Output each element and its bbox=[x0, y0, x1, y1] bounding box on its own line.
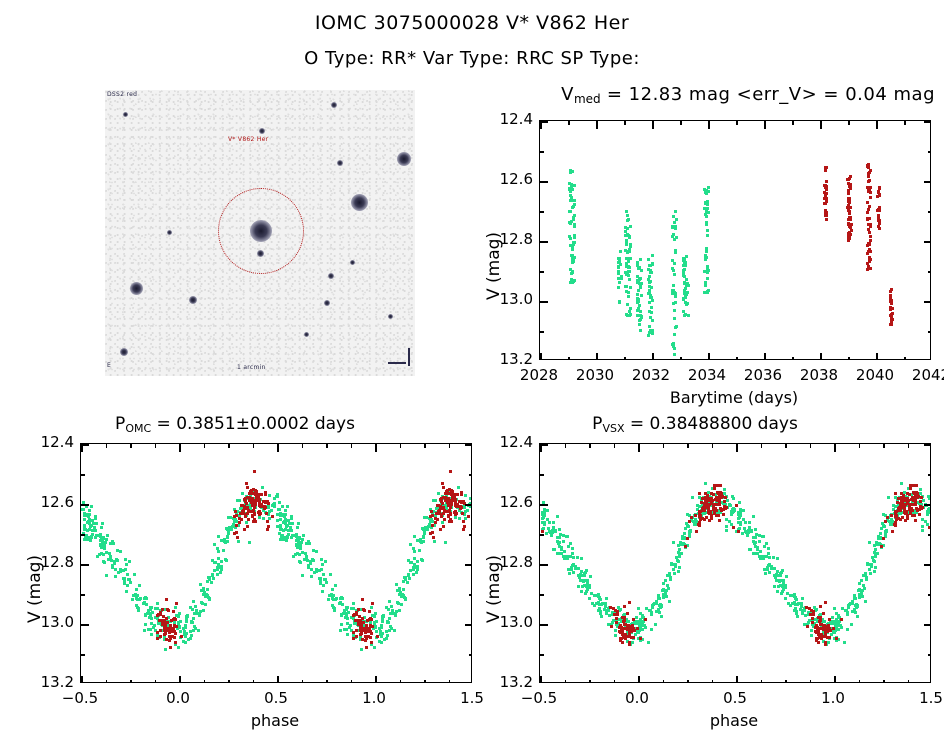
data-point bbox=[416, 560, 419, 563]
phase-vsx-xtick-label: −0.5 bbox=[499, 689, 579, 707]
data-point bbox=[322, 584, 325, 587]
data-point bbox=[175, 602, 178, 605]
data-point bbox=[541, 511, 544, 514]
phase-omc-xtick-minor bbox=[351, 680, 353, 683]
data-point bbox=[90, 505, 93, 508]
data-point bbox=[298, 553, 301, 556]
phase-omc-ytick-label: 12.6 bbox=[22, 493, 74, 511]
data-point bbox=[900, 503, 903, 506]
data-point bbox=[257, 495, 260, 498]
data-point bbox=[192, 629, 195, 632]
data-point bbox=[114, 575, 117, 578]
data-point bbox=[782, 588, 785, 591]
data-point bbox=[553, 548, 556, 551]
data-point bbox=[770, 565, 773, 568]
data-point bbox=[217, 535, 220, 538]
data-point bbox=[705, 215, 708, 218]
data-point bbox=[464, 494, 467, 497]
lightcurve-plot-area bbox=[539, 120, 931, 360]
data-point bbox=[319, 582, 322, 585]
phase-omc-ytick-minor bbox=[81, 654, 85, 656]
data-point bbox=[371, 602, 374, 605]
data-point bbox=[824, 641, 827, 644]
data-point bbox=[245, 482, 248, 485]
data-point bbox=[273, 504, 276, 507]
data-point bbox=[219, 571, 222, 574]
data-point bbox=[827, 641, 830, 644]
lightcurve-xtick-minor bbox=[792, 121, 794, 125]
data-point bbox=[639, 258, 642, 261]
phase-omc-xtick-minor bbox=[400, 444, 402, 448]
data-point bbox=[919, 500, 922, 503]
data-point bbox=[311, 558, 314, 561]
phase-omc-ytick-label: 12.8 bbox=[22, 553, 74, 571]
data-point bbox=[91, 519, 94, 522]
data-point bbox=[758, 534, 761, 537]
phase-vsx-ytick-minor bbox=[540, 534, 544, 536]
lightcurve-ytick bbox=[924, 301, 931, 303]
data-point bbox=[105, 538, 108, 541]
data-point bbox=[623, 605, 626, 608]
data-point bbox=[619, 250, 622, 253]
data-point bbox=[705, 250, 708, 253]
data-point bbox=[603, 608, 606, 611]
data-point bbox=[144, 623, 147, 626]
field-star bbox=[257, 250, 264, 257]
data-point bbox=[868, 541, 871, 544]
data-point bbox=[811, 617, 814, 620]
data-point bbox=[601, 602, 604, 605]
data-point bbox=[684, 301, 687, 304]
data-point bbox=[753, 541, 756, 544]
data-point bbox=[648, 281, 651, 284]
data-point bbox=[246, 525, 249, 528]
phase-vsx-xtick-minor bbox=[785, 444, 787, 448]
data-point bbox=[767, 564, 770, 567]
data-point bbox=[889, 522, 892, 525]
data-point bbox=[220, 560, 223, 563]
data-point bbox=[767, 552, 770, 555]
data-point bbox=[767, 547, 770, 550]
data-point bbox=[135, 588, 138, 591]
data-point bbox=[446, 501, 449, 504]
data-point bbox=[315, 568, 318, 571]
data-point bbox=[677, 560, 680, 563]
data-point bbox=[776, 570, 779, 573]
finder-scale-label: 1 arcmin bbox=[237, 364, 266, 371]
data-point bbox=[444, 541, 447, 544]
phase-vsx-xtick bbox=[540, 676, 542, 683]
data-point bbox=[890, 288, 893, 291]
data-point bbox=[728, 503, 731, 506]
data-point bbox=[824, 166, 827, 169]
data-point bbox=[617, 286, 620, 289]
data-point bbox=[858, 593, 861, 596]
data-point bbox=[908, 493, 911, 496]
data-point bbox=[703, 207, 706, 210]
data-point bbox=[707, 190, 710, 193]
data-point bbox=[443, 518, 446, 521]
data-point bbox=[385, 630, 388, 633]
data-point bbox=[567, 568, 570, 571]
field-star bbox=[331, 102, 337, 108]
data-point bbox=[254, 500, 257, 503]
data-point bbox=[877, 214, 880, 217]
data-point bbox=[856, 605, 859, 608]
data-point bbox=[266, 520, 269, 523]
phase-vsx-xtick-minor bbox=[785, 680, 787, 683]
phase-vsx-xtick-label: 0.0 bbox=[597, 689, 677, 707]
data-point bbox=[83, 524, 86, 527]
data-point bbox=[580, 570, 583, 573]
lightcurve-ytick bbox=[540, 181, 548, 183]
vmed-rest: = 12.83 mag <err_V> = 0.04 mag bbox=[601, 84, 935, 105]
data-point bbox=[796, 615, 799, 618]
lightcurve-ytick bbox=[540, 241, 548, 243]
phase-vsx-xtick-label: 1.0 bbox=[793, 689, 873, 707]
data-point bbox=[816, 637, 819, 640]
data-point bbox=[462, 528, 465, 531]
data-point bbox=[99, 539, 102, 542]
phase-vsx-xtick-minor bbox=[810, 680, 812, 683]
data-point bbox=[571, 552, 574, 555]
data-point bbox=[421, 540, 424, 543]
data-point bbox=[927, 495, 930, 498]
data-point bbox=[763, 568, 766, 571]
data-point bbox=[212, 577, 215, 580]
data-point bbox=[172, 627, 175, 630]
data-point bbox=[694, 514, 697, 517]
data-point bbox=[884, 533, 887, 536]
data-point bbox=[892, 504, 895, 507]
data-point bbox=[202, 609, 205, 612]
data-point bbox=[710, 497, 713, 500]
data-point bbox=[346, 633, 349, 636]
data-point bbox=[321, 563, 324, 566]
data-point bbox=[422, 535, 425, 538]
data-point bbox=[867, 175, 870, 178]
data-point bbox=[648, 325, 651, 328]
orientation-arrow-north bbox=[408, 348, 410, 366]
data-point bbox=[926, 513, 929, 516]
phase-vsx-xlabel: phase bbox=[589, 711, 879, 730]
data-point bbox=[876, 195, 879, 198]
data-point bbox=[126, 584, 129, 587]
data-point bbox=[265, 512, 268, 515]
data-point bbox=[374, 612, 377, 615]
data-point bbox=[441, 502, 444, 505]
field-star bbox=[259, 128, 265, 134]
lightcurve-xtick bbox=[708, 353, 710, 360]
phase-vsx-xtick-minor bbox=[687, 680, 689, 683]
data-point bbox=[803, 609, 806, 612]
data-point bbox=[847, 192, 850, 195]
data-point bbox=[258, 516, 261, 519]
data-point bbox=[430, 519, 433, 522]
phase-vsx-ytick bbox=[924, 444, 931, 446]
data-point bbox=[688, 533, 691, 536]
data-point bbox=[641, 614, 644, 617]
data-point bbox=[682, 259, 685, 262]
data-point bbox=[912, 499, 915, 502]
data-point bbox=[824, 601, 827, 604]
data-point bbox=[571, 547, 574, 550]
data-point bbox=[448, 488, 451, 491]
data-point bbox=[235, 524, 238, 527]
data-point bbox=[552, 521, 555, 524]
data-point bbox=[672, 226, 675, 229]
data-point bbox=[628, 629, 631, 632]
data-point bbox=[236, 536, 239, 539]
data-point bbox=[229, 516, 232, 519]
lightcurve-xtick-minor bbox=[848, 121, 850, 125]
data-point bbox=[461, 512, 464, 515]
data-point bbox=[584, 584, 587, 587]
data-point bbox=[418, 549, 421, 552]
lightcurve-xtick-minor bbox=[680, 121, 682, 125]
data-point bbox=[437, 492, 440, 495]
data-point bbox=[916, 509, 919, 512]
phase-omc-xtick-minor bbox=[351, 444, 353, 448]
data-point bbox=[150, 606, 153, 609]
data-point bbox=[704, 254, 707, 257]
phase-vsx-xtick-minor bbox=[859, 680, 861, 683]
data-point bbox=[156, 602, 159, 605]
data-point bbox=[614, 634, 617, 637]
data-point bbox=[217, 550, 220, 553]
data-point bbox=[286, 536, 289, 539]
data-point bbox=[889, 308, 892, 311]
field-star bbox=[324, 300, 330, 306]
data-point bbox=[849, 233, 852, 236]
data-point bbox=[684, 287, 687, 290]
data-point bbox=[878, 186, 881, 189]
data-point bbox=[698, 492, 701, 495]
data-point bbox=[94, 515, 97, 518]
data-point bbox=[238, 521, 241, 524]
data-point bbox=[301, 551, 304, 554]
data-point bbox=[819, 605, 822, 608]
finder-east-label: E bbox=[107, 362, 111, 369]
phase-vsx-ytick-label: 12.6 bbox=[481, 493, 533, 511]
data-point bbox=[190, 634, 193, 637]
data-point bbox=[444, 499, 447, 502]
data-point bbox=[267, 506, 270, 509]
data-point bbox=[640, 294, 643, 297]
data-point bbox=[862, 584, 865, 587]
data-point bbox=[366, 635, 369, 638]
data-point bbox=[394, 612, 397, 615]
data-point bbox=[101, 522, 104, 525]
phase-vsx-ytick bbox=[924, 504, 931, 506]
data-point bbox=[926, 523, 929, 526]
data-point bbox=[180, 635, 183, 638]
data-point bbox=[900, 492, 903, 495]
data-point bbox=[352, 637, 355, 640]
data-point bbox=[673, 309, 676, 312]
phase-omc-xtick bbox=[179, 676, 181, 683]
data-point bbox=[290, 529, 293, 532]
data-point bbox=[919, 505, 922, 508]
data-point bbox=[617, 261, 620, 264]
data-point bbox=[706, 234, 709, 237]
data-point bbox=[801, 612, 804, 615]
lightcurve-xtick-minor bbox=[904, 357, 906, 360]
data-point bbox=[334, 584, 337, 587]
data-point bbox=[858, 596, 861, 599]
data-point bbox=[222, 549, 225, 552]
data-point bbox=[589, 575, 592, 578]
data-point bbox=[192, 600, 195, 603]
data-point bbox=[200, 601, 203, 604]
data-point bbox=[673, 221, 676, 224]
data-point bbox=[704, 492, 707, 495]
lightcurve-xtick bbox=[876, 353, 878, 360]
data-point bbox=[439, 528, 442, 531]
data-point bbox=[449, 506, 452, 509]
data-point bbox=[731, 495, 734, 498]
data-point bbox=[853, 594, 856, 597]
phase-vsx-xtick-minor bbox=[565, 680, 567, 683]
data-point bbox=[911, 514, 914, 517]
data-point bbox=[450, 493, 453, 496]
data-point bbox=[338, 602, 341, 605]
data-point bbox=[847, 604, 850, 607]
data-point bbox=[197, 629, 200, 632]
data-point bbox=[558, 528, 561, 531]
data-point bbox=[695, 530, 698, 533]
data-point bbox=[833, 607, 836, 610]
data-point bbox=[847, 178, 850, 181]
data-point bbox=[914, 519, 917, 522]
data-point bbox=[800, 602, 803, 605]
phase-omc-ytick-label: 13.2 bbox=[22, 673, 74, 691]
data-point bbox=[125, 590, 128, 593]
data-point bbox=[546, 509, 549, 512]
lightcurve-xtick-minor bbox=[736, 357, 738, 360]
phase-omc-xtick-minor bbox=[106, 444, 108, 448]
data-point bbox=[340, 623, 343, 626]
phase-omc-xtick-minor bbox=[155, 680, 157, 683]
data-point bbox=[678, 555, 681, 558]
data-point bbox=[672, 284, 675, 287]
data-point bbox=[247, 509, 250, 512]
data-point bbox=[915, 484, 918, 487]
data-point bbox=[613, 613, 616, 616]
data-point bbox=[128, 560, 131, 563]
phase-omc-xtick-minor bbox=[449, 680, 451, 683]
data-point bbox=[673, 317, 676, 320]
data-point bbox=[278, 532, 281, 535]
phase-vsx-xtick-minor bbox=[663, 680, 665, 683]
data-point bbox=[825, 218, 828, 221]
phase-omc-ytick bbox=[465, 564, 472, 566]
data-point bbox=[248, 499, 251, 502]
data-point bbox=[620, 277, 623, 280]
phase-vsx-xtick-minor bbox=[908, 680, 910, 683]
data-point bbox=[438, 512, 441, 515]
lightcurve-xtick bbox=[596, 353, 598, 360]
data-point bbox=[588, 597, 591, 600]
data-point bbox=[268, 510, 271, 513]
data-point bbox=[295, 539, 298, 542]
data-point bbox=[164, 648, 167, 651]
data-point bbox=[915, 491, 918, 494]
data-point bbox=[361, 638, 364, 641]
data-point bbox=[647, 258, 650, 261]
phase-vsx-plot-area bbox=[539, 443, 931, 683]
lightcurve-xtick-minor bbox=[624, 357, 626, 360]
data-point bbox=[877, 191, 880, 194]
data-point bbox=[684, 313, 687, 316]
data-point bbox=[672, 215, 675, 218]
data-point bbox=[463, 525, 466, 528]
data-point bbox=[233, 532, 236, 535]
data-point bbox=[691, 496, 694, 499]
data-point bbox=[319, 577, 322, 580]
data-point bbox=[442, 512, 445, 515]
data-point bbox=[866, 165, 869, 168]
data-point bbox=[732, 526, 735, 529]
data-point bbox=[165, 598, 168, 601]
data-point bbox=[572, 243, 575, 246]
data-point bbox=[625, 210, 628, 213]
data-point bbox=[257, 511, 260, 514]
data-point bbox=[739, 508, 742, 511]
data-point bbox=[672, 541, 675, 544]
data-point bbox=[237, 540, 240, 543]
data-point bbox=[454, 501, 457, 504]
lightcurve-xtick-minor bbox=[568, 121, 570, 125]
data-point bbox=[386, 634, 389, 637]
data-point bbox=[784, 597, 787, 600]
data-point bbox=[223, 540, 226, 543]
phase-omc-xtick-label: 0.5 bbox=[236, 689, 316, 707]
data-point bbox=[674, 210, 677, 213]
lightcurve-xlabel: Barytime (days) bbox=[589, 388, 879, 407]
data-point bbox=[737, 521, 740, 524]
data-point bbox=[415, 571, 418, 574]
phase-vsx-xtick-minor bbox=[589, 444, 591, 448]
data-point bbox=[413, 535, 416, 538]
lightcurve-ytick-label: 13.2 bbox=[481, 350, 533, 368]
phase-omc-title-rest: = 0.3851±0.0002 days bbox=[151, 414, 355, 434]
data-point bbox=[541, 521, 544, 524]
data-point bbox=[279, 512, 282, 515]
data-point bbox=[873, 560, 876, 563]
data-point bbox=[423, 531, 426, 534]
data-point bbox=[263, 505, 266, 508]
data-point bbox=[580, 590, 583, 593]
data-point bbox=[376, 635, 379, 638]
data-point bbox=[840, 626, 843, 629]
data-point bbox=[329, 573, 332, 576]
phase-omc-xtick bbox=[375, 676, 377, 683]
data-point bbox=[673, 273, 676, 276]
data-point bbox=[382, 614, 385, 617]
data-point bbox=[315, 550, 318, 553]
lightcurve-xtick bbox=[876, 121, 878, 129]
data-point bbox=[867, 188, 870, 191]
lightcurve-xtick-minor bbox=[848, 357, 850, 360]
data-point bbox=[724, 496, 727, 499]
data-point bbox=[666, 584, 669, 587]
data-point bbox=[919, 488, 922, 491]
data-point bbox=[421, 559, 424, 562]
lightcurve-ytick bbox=[924, 181, 931, 183]
phase-omc-xtick-minor bbox=[253, 680, 255, 683]
data-point bbox=[604, 602, 607, 605]
